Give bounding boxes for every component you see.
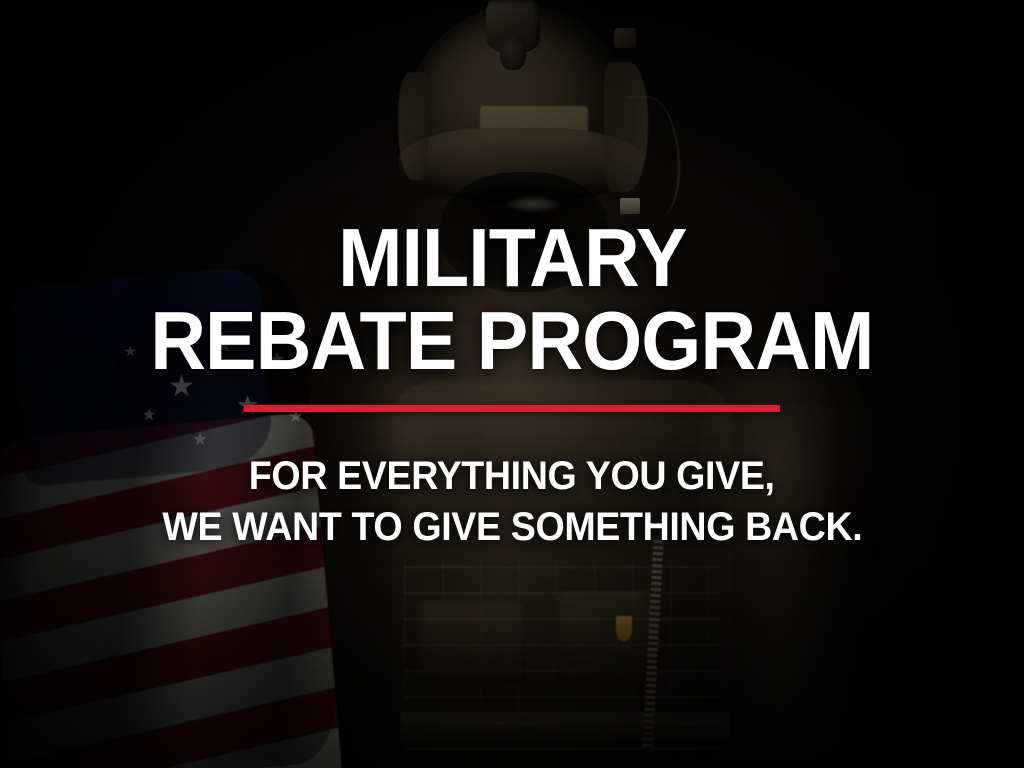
promo-banner: ★★★★★★★★ MILITARY REBATE PROGRAM FOR EVE	[0, 0, 1024, 768]
subheadline-line-1: FOR EVERYTHING YOU GIVE,	[249, 456, 775, 497]
headline-line-1: MILITARY	[338, 218, 686, 299]
subheadline-line-2: WE WANT TO GIVE SOMETHING BACK.	[162, 507, 862, 548]
red-divider-rule	[244, 405, 780, 412]
banner-content: MILITARY REBATE PROGRAM FOR EVERYTHING Y…	[0, 0, 1024, 768]
headline-line-2: REBATE PROGRAM	[150, 301, 873, 382]
